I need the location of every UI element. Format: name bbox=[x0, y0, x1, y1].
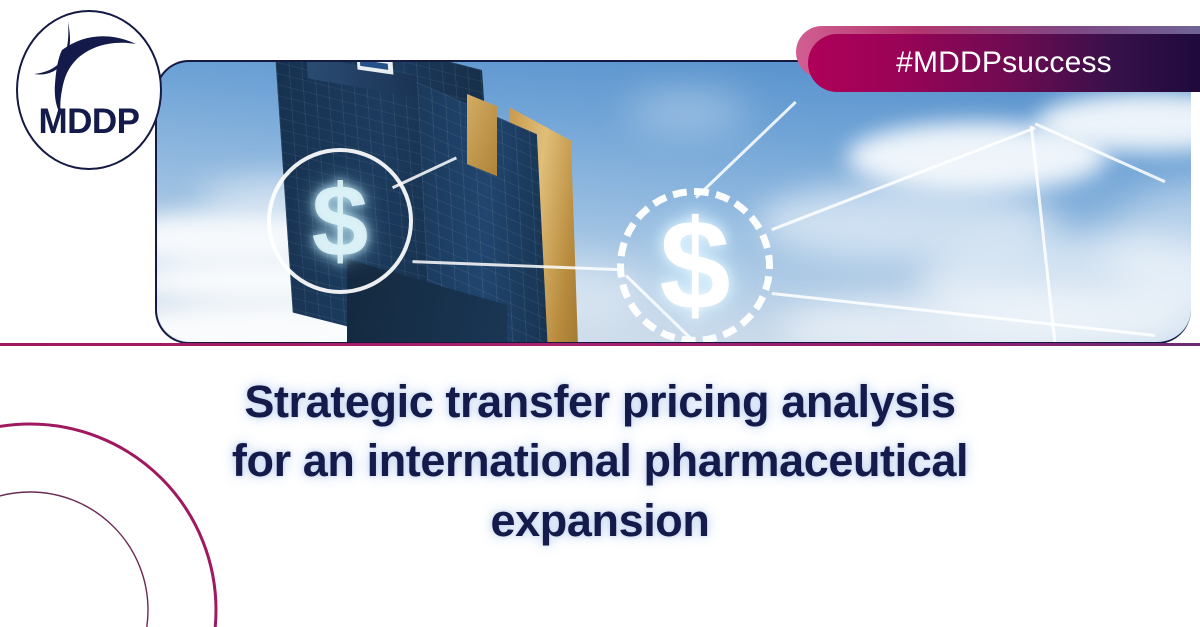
title-block: Strategic transfer pricing analysis for … bbox=[230, 372, 970, 550]
hashtag-badge[interactable]: #MDDPsuccess bbox=[808, 34, 1200, 92]
logo-badge[interactable]: MDDP bbox=[16, 10, 162, 170]
section-divider bbox=[0, 343, 1200, 346]
social-card: $ $ #MDDPsuccess MDDP Strategic transfer… bbox=[0, 0, 1200, 627]
page-title: Strategic transfer pricing analysis for … bbox=[230, 372, 970, 550]
dollar-node-dashed: $ bbox=[617, 188, 773, 342]
hero-image: $ $ bbox=[157, 62, 1191, 342]
dollar-sign-icon: $ bbox=[659, 202, 730, 330]
dollar-sign-icon: $ bbox=[312, 170, 369, 272]
hero-banner: $ $ bbox=[155, 60, 1191, 344]
hashtag-label: #MDDPsuccess bbox=[896, 46, 1112, 80]
tower-gold-accent bbox=[467, 94, 497, 176]
decorative-circles bbox=[0, 415, 225, 627]
dollar-node-solid: $ bbox=[267, 148, 413, 294]
logo-wordmark: MDDP bbox=[18, 102, 160, 142]
